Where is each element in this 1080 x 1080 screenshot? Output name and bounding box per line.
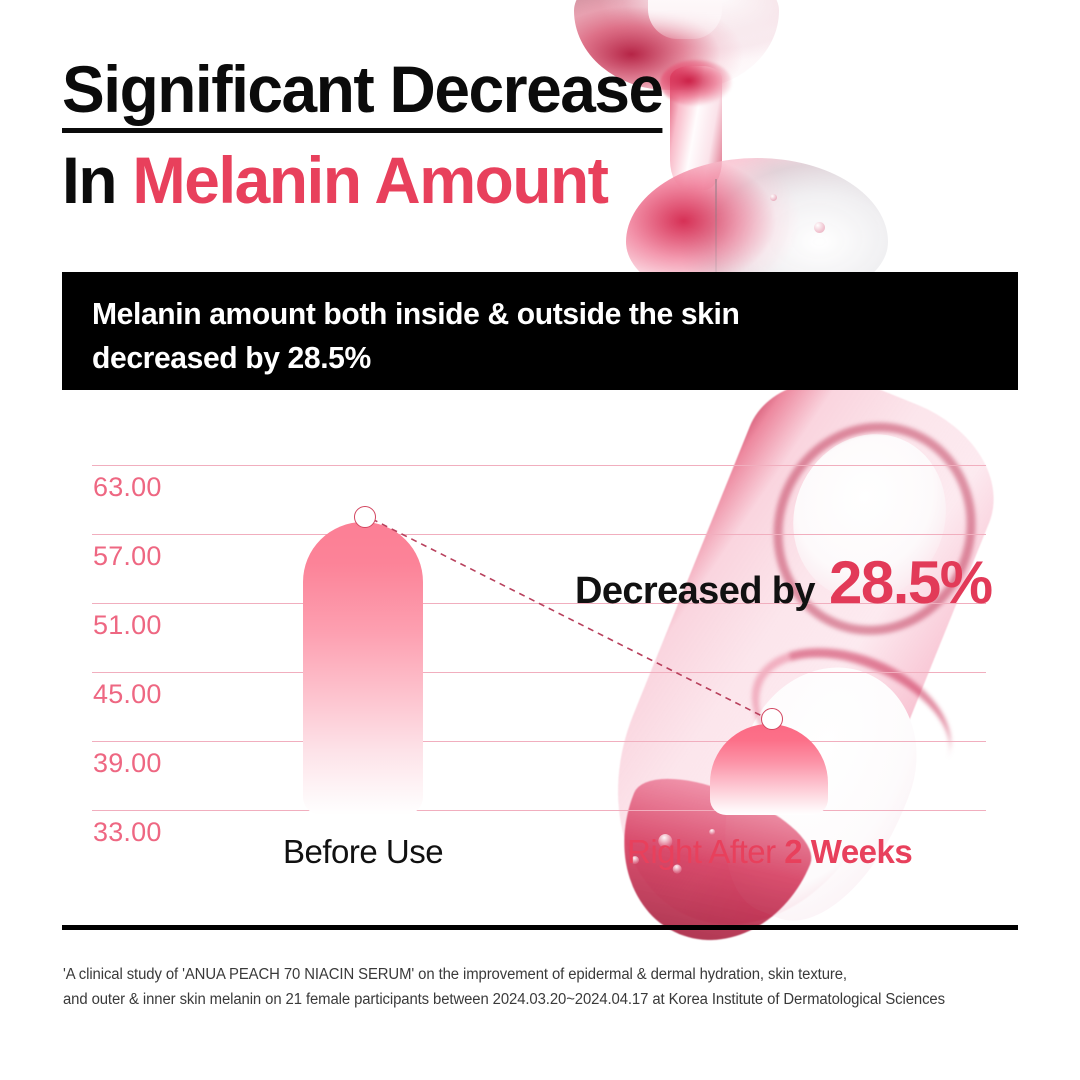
dropper-tail-shape: [591, 759, 823, 969]
bubble-icon: [656, 832, 674, 850]
dropper-highlight-lower: [689, 641, 946, 947]
footnote-block: 'A clinical study of 'ANUA PEACH 70 NIAC…: [63, 962, 1023, 1012]
x-axis-label-after-strong: 2 Weeks: [784, 833, 912, 870]
gridline: [92, 741, 986, 742]
headline-line-1: Significant Decrease: [62, 52, 663, 133]
headline-accent: Melanin Amount: [132, 143, 607, 217]
data-point-marker-after: [761, 708, 783, 730]
x-axis-label-after-plain: Right After: [627, 833, 784, 870]
decrease-callout-label: Decreased by: [575, 570, 815, 613]
footnote-line-2: and outer & inner skin melanin on 21 fem…: [63, 987, 985, 1012]
y-axis-tick-label: 51.00: [93, 610, 162, 640]
y-axis-tick-label: 57.00: [93, 541, 162, 571]
gridline: [92, 465, 986, 466]
headline-block: Significant Decrease In Melanin Amount: [62, 52, 762, 218]
y-axis-tick-label: 63.00: [93, 472, 162, 502]
decrease-callout: Decreased by 28.5%: [575, 548, 992, 617]
summary-banner: Melanin amount both inside & outside the…: [62, 272, 1018, 390]
footnote-line-1: 'A clinical study of 'ANUA PEACH 70 NIAC…: [63, 962, 985, 987]
x-axis-label-right-after: Right After 2 Weeks: [627, 833, 912, 871]
headline-line-2: In Melanin Amount: [62, 142, 741, 218]
bubble-icon: [814, 222, 825, 233]
gridline: [92, 672, 986, 673]
summary-banner-line-2: decreased by 28.5%: [92, 336, 990, 380]
bubble-icon: [770, 194, 777, 201]
bubble-icon: [671, 863, 683, 875]
summary-banner-line-1: Melanin amount both inside & outside the…: [92, 292, 990, 336]
y-axis-tick-label: 39.00: [93, 748, 162, 778]
bubble-icon: [708, 828, 716, 836]
trend-dashed-line: [372, 519, 766, 718]
gridline: [92, 810, 986, 811]
x-axis-label-before-use: Before Use: [283, 833, 443, 871]
headline-prefix: In: [62, 143, 132, 217]
bubble-icon: [630, 855, 640, 865]
bar-before-use: [303, 522, 423, 815]
bar-right-after-2-weeks: [710, 724, 828, 815]
gridline: [92, 603, 986, 604]
infographic-page: Significant Decrease In Melanin Amount M…: [0, 0, 1080, 1080]
y-axis-tick-label: 45.00: [93, 679, 162, 709]
data-point-marker-before: [354, 506, 376, 528]
dropper-body-shape: [571, 350, 1020, 966]
decrease-callout-value: 28.5%: [829, 548, 992, 617]
footer-divider: [62, 925, 1018, 930]
dropper-highlight-upper: [769, 411, 971, 623]
y-axis-tick-label: 33.00: [93, 817, 162, 847]
gridline: [92, 534, 986, 535]
